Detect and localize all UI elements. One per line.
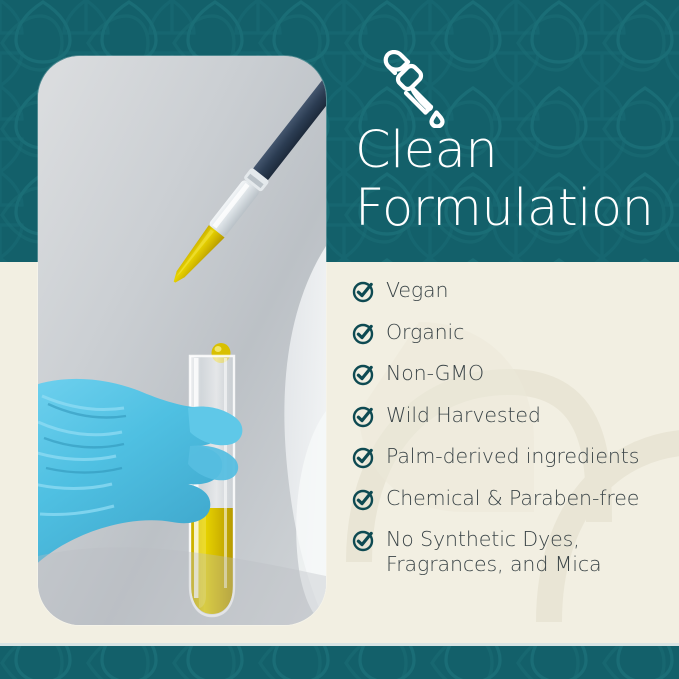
list-item-label: Wild Harvested [386, 403, 541, 428]
list-item: Palm-derived ingredients [352, 444, 679, 470]
list-item-label: Organic [386, 320, 464, 345]
title-line-1: Clean [355, 122, 679, 180]
list-item: Chemical & Paraben-free [352, 486, 679, 512]
list-item: Non-GMO [352, 361, 679, 387]
check-circle-icon [352, 280, 375, 303]
list-item-label: Vegan [386, 278, 448, 303]
feature-list: Vegan Organic Non-GMO [352, 278, 679, 577]
list-item-label: Non-GMO [386, 361, 484, 386]
check-circle-icon [352, 405, 375, 428]
title-line-2: Formulation [355, 180, 679, 238]
list-item-label: No Synthetic Dyes, Fragrances, and Mica [386, 527, 601, 577]
list-item: No Synthetic Dyes, Fragrances, and Mica [352, 527, 679, 577]
check-circle-icon [352, 488, 375, 511]
check-circle-icon [352, 322, 375, 345]
check-circle-icon [352, 529, 375, 552]
list-item: Organic [352, 320, 679, 346]
content-column: Clean Formulation Vegan [350, 0, 679, 679]
check-circle-icon [352, 363, 375, 386]
product-photo [38, 56, 326, 625]
photo-illustration [38, 56, 326, 625]
check-circle-icon [352, 446, 375, 469]
list-item-label: Chemical & Paraben-free [386, 486, 639, 511]
list-item: Vegan [352, 278, 679, 304]
infographic-canvas: Clean Formulation Vegan [0, 0, 679, 679]
list-item-label: Palm-derived ingredients [386, 444, 639, 469]
page-title: Clean Formulation [355, 122, 679, 238]
list-item: Wild Harvested [352, 403, 679, 429]
